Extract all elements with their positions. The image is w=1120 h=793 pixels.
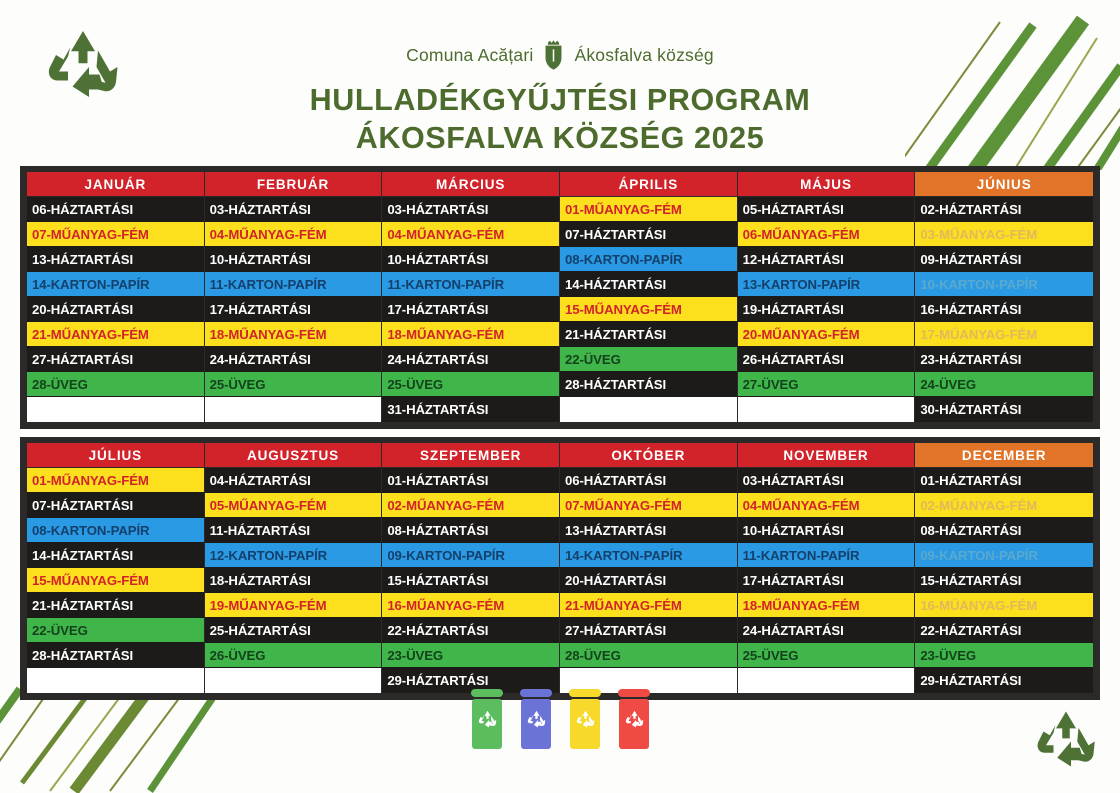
month-column-szeptember: SZEPTEMBER01-HÁZTARTÁSI02-MŰANYAG-FÉM08-… — [382, 443, 560, 693]
calendar-cell: 16-HÁZTARTÁSI — [915, 297, 1093, 322]
bin-yellow — [565, 689, 605, 751]
calendar-cell: 01-MŰANYAG-FÉM — [27, 468, 204, 493]
calendar-cell: 18-MŰANYAG-FÉM — [382, 322, 559, 347]
month-column-május: MÁJUS05-HÁZTARTÁSI06-MŰANYAG-FÉM12-HÁZTA… — [738, 172, 916, 422]
calendar-cell: 03-HÁZTARTÁSI — [382, 197, 559, 222]
month-header: JANUÁR — [27, 172, 204, 197]
calendar-cell: 15-MŰANYAG-FÉM — [560, 297, 737, 322]
calendar-cell: 01-MŰANYAG-FÉM — [560, 197, 737, 222]
bin-red — [614, 689, 654, 751]
month-header: MÁRCIUS — [382, 172, 559, 197]
calendar-cell: 04-MŰANYAG-FÉM — [382, 222, 559, 247]
commune-name-hu: Ákosfalva község — [574, 45, 713, 66]
calendar-cell: 20-HÁZTARTÁSI — [560, 568, 737, 593]
calendar-cell: 01-HÁZTARTÁSI — [382, 468, 559, 493]
calendar-cell: 03-HÁZTARTÁSI — [205, 197, 382, 222]
calendar-cell: 28-HÁZTARTÁSI — [560, 372, 737, 397]
calendar-cell: 19-HÁZTARTÁSI — [738, 297, 915, 322]
calendar-cell: 14-HÁZTARTÁSI — [560, 272, 737, 297]
calendar-cell: 27-HÁZTARTÁSI — [560, 618, 737, 643]
month-header: JÚNIUS — [915, 172, 1093, 197]
calendar-cell: 21-HÁZTARTÁSI — [27, 593, 204, 618]
calendar-cell: 25-ÜVEG — [205, 372, 382, 397]
calendar-cell: 04-MŰANYAG-FÉM — [738, 493, 915, 518]
calendar-cell: 16-MŰANYAG-FÉM — [915, 593, 1093, 618]
calendar-cell: 08-HÁZTARTÁSI — [915, 518, 1093, 543]
calendar-cell: 25-ÜVEG — [738, 643, 915, 668]
page-title: HULLADÉKGYŰJTÉSI PROGRAM — [230, 81, 890, 119]
calendar-cell: 23-ÜVEG — [382, 643, 559, 668]
calendar-cell: 20-MŰANYAG-FÉM — [738, 322, 915, 347]
calendar-cell: 08-KARTON-PAPÍR — [27, 518, 204, 543]
calendar-cell: 23-HÁZTARTÁSI — [915, 347, 1093, 372]
calendar-cell: 12-KARTON-PAPÍR — [205, 543, 382, 568]
calendar-cell: 26-HÁZTARTÁSI — [738, 347, 915, 372]
calendar-cell: 17-MŰANYAG-FÉM — [915, 322, 1093, 347]
calendar-cell: 17-HÁZTARTÁSI — [205, 297, 382, 322]
commune-name-ro: Comuna Acățari — [406, 45, 533, 66]
month-column-március: MÁRCIUS03-HÁZTARTÁSI04-MŰANYAG-FÉM10-HÁZ… — [382, 172, 560, 422]
calendar-cell: 18-HÁZTARTÁSI — [205, 568, 382, 593]
recycle-icon — [45, 28, 121, 100]
calendar-cell: 16-MŰANYAG-FÉM — [382, 593, 559, 618]
bin-green — [467, 689, 507, 751]
calendar-cell: 24-ÜVEG — [915, 372, 1093, 397]
calendar-cell-empty — [738, 397, 915, 422]
calendar-cell: 04-HÁZTARTÁSI — [205, 468, 382, 493]
calendar-cell: 28-ÜVEG — [27, 372, 204, 397]
calendar-cell: 17-HÁZTARTÁSI — [382, 297, 559, 322]
calendar-table-second-half: JÚLIUS01-MŰANYAG-FÉM07-HÁZTARTÁSI08-KART… — [20, 437, 1100, 700]
calendar-cell-empty — [27, 397, 204, 422]
calendar-cell: 14-HÁZTARTÁSI — [27, 543, 204, 568]
waste-bins-illustration — [0, 689, 1120, 751]
bin-green-glyph — [467, 689, 507, 751]
calendar-cell: 03-HÁZTARTÁSI — [738, 468, 915, 493]
calendar-cell-empty — [205, 397, 382, 422]
calendar-cell: 22-HÁZTARTÁSI — [915, 618, 1093, 643]
calendar-table-first-half: JANUÁR06-HÁZTARTÁSI07-MŰANYAG-FÉM13-HÁZT… — [20, 166, 1100, 429]
calendar-cell: 28-HÁZTARTÁSI — [27, 643, 204, 668]
calendar-cell: 15-MŰANYAG-FÉM — [27, 568, 204, 593]
bin-blue — [516, 689, 556, 751]
month-column-július: JÚLIUS01-MŰANYAG-FÉM07-HÁZTARTÁSI08-KART… — [27, 443, 205, 693]
calendar-cell: 07-HÁZTARTÁSI — [560, 222, 737, 247]
calendar-cell: 19-MŰANYAG-FÉM — [205, 593, 382, 618]
calendar-cell: 02-HÁZTARTÁSI — [915, 197, 1093, 222]
calendar-grid: JÚLIUS01-MŰANYAG-FÉM07-HÁZTARTÁSI08-KART… — [27, 443, 1093, 693]
calendar-cell: 17-HÁZTARTÁSI — [738, 568, 915, 593]
calendar-cell: 11-KARTON-PAPÍR — [382, 272, 559, 297]
calendar-cell: 18-MŰANYAG-FÉM — [205, 322, 382, 347]
calendar-cell: 30-HÁZTARTÁSI — [915, 397, 1093, 422]
calendar-cell: 06-HÁZTARTÁSI — [27, 197, 204, 222]
month-column-december: DECEMBER01-HÁZTARTÁSI02-MŰANYAG-FÉM08-HÁ… — [915, 443, 1093, 693]
calendar-cell: 27-HÁZTARTÁSI — [27, 347, 204, 372]
calendar-cell: 09-KARTON-PAPÍR — [915, 543, 1093, 568]
month-header: FEBRUÁR — [205, 172, 382, 197]
calendar-cell: 07-MŰANYAG-FÉM — [560, 493, 737, 518]
month-header: OKTÓBER — [560, 443, 737, 468]
calendar-cell: 21-MŰANYAG-FÉM — [27, 322, 204, 347]
recycle-icon — [1034, 709, 1098, 769]
month-column-augusztus: AUGUSZTUS04-HÁZTARTÁSI05-MŰANYAG-FÉM11-H… — [205, 443, 383, 693]
bin-red-glyph — [614, 689, 654, 751]
calendar-cell: 08-KARTON-PAPÍR — [560, 247, 737, 272]
calendar-cell: 21-MŰANYAG-FÉM — [560, 593, 737, 618]
calendar-cell: 24-HÁZTARTÁSI — [738, 618, 915, 643]
page-subtitle: ÁKOSFALVA KÖZSÉG 2025 — [230, 119, 890, 157]
calendar-cell: 27-ÜVEG — [738, 372, 915, 397]
calendar-cell: 02-MŰANYAG-FÉM — [382, 493, 559, 518]
calendar-cell: 14-KARTON-PAPÍR — [560, 543, 737, 568]
month-column-február: FEBRUÁR03-HÁZTARTÁSI04-MŰANYAG-FÉM10-HÁZ… — [205, 172, 383, 422]
calendar-cell: 12-HÁZTARTÁSI — [738, 247, 915, 272]
month-header: AUGUSZTUS — [205, 443, 382, 468]
month-header: DECEMBER — [915, 443, 1093, 468]
calendar-cell: 24-HÁZTARTÁSI — [205, 347, 382, 372]
month-header: MÁJUS — [738, 172, 915, 197]
calendar-cell: 09-HÁZTARTÁSI — [915, 247, 1093, 272]
calendar-cell: 31-HÁZTARTÁSI — [382, 397, 559, 422]
calendar-cell: 15-HÁZTARTÁSI — [915, 568, 1093, 593]
commune-line: Comuna Acățari Ákosfalva község — [230, 40, 890, 70]
calendar-cell: 21-HÁZTARTÁSI — [560, 322, 737, 347]
calendar-cell: 18-MŰANYAG-FÉM — [738, 593, 915, 618]
calendar-cell: 22-HÁZTARTÁSI — [382, 618, 559, 643]
calendar-cell-empty — [560, 397, 737, 422]
month-column-október: OKTÓBER06-HÁZTARTÁSI07-MŰANYAG-FÉM13-HÁZ… — [560, 443, 738, 693]
calendar-cell: 10-HÁZTARTÁSI — [382, 247, 559, 272]
calendar-cell: 06-MŰANYAG-FÉM — [738, 222, 915, 247]
month-column-november: NOVEMBER03-HÁZTARTÁSI04-MŰANYAG-FÉM10-HÁ… — [738, 443, 916, 693]
bin-yellow-glyph — [565, 689, 605, 751]
calendar-cell: 11-KARTON-PAPÍR — [205, 272, 382, 297]
calendar-cell: 01-HÁZTARTÁSI — [915, 468, 1093, 493]
calendar-cell: 25-ÜVEG — [382, 372, 559, 397]
calendar-cell: 13-HÁZTARTÁSI — [560, 518, 737, 543]
month-column-január: JANUÁR06-HÁZTARTÁSI07-MŰANYAG-FÉM13-HÁZT… — [27, 172, 205, 422]
calendar-cell: 24-HÁZTARTÁSI — [382, 347, 559, 372]
calendar-cell: 14-KARTON-PAPÍR — [27, 272, 204, 297]
calendar-grid: JANUÁR06-HÁZTARTÁSI07-MŰANYAG-FÉM13-HÁZT… — [27, 172, 1093, 422]
calendar-cell: 10-HÁZTARTÁSI — [205, 247, 382, 272]
calendar-cell: 28-ÜVEG — [560, 643, 737, 668]
calendar-cell: 22-ÜVEG — [27, 618, 204, 643]
calendar-cell: 10-KARTON-PAPÍR — [915, 272, 1093, 297]
month-column-április: ÁPRILIS01-MŰANYAG-FÉM07-HÁZTARTÁSI08-KAR… — [560, 172, 738, 422]
calendar-cell: 04-MŰANYAG-FÉM — [205, 222, 382, 247]
calendar-cell: 07-HÁZTARTÁSI — [27, 493, 204, 518]
bin-blue-glyph — [516, 689, 556, 751]
calendar-cell: 25-HÁZTARTÁSI — [205, 618, 382, 643]
calendar-cell: 06-HÁZTARTÁSI — [560, 468, 737, 493]
calendar-cell: 08-HÁZTARTÁSI — [382, 518, 559, 543]
calendar-cell: 07-MŰANYAG-FÉM — [27, 222, 204, 247]
month-header: NOVEMBER — [738, 443, 915, 468]
calendar-cell: 23-ÜVEG — [915, 643, 1093, 668]
calendar-cell: 10-HÁZTARTÁSI — [738, 518, 915, 543]
month-header: SZEPTEMBER — [382, 443, 559, 468]
month-column-június: JÚNIUS02-HÁZTARTÁSI03-MŰANYAG-FÉM09-HÁZT… — [915, 172, 1093, 422]
calendar-cell: 03-MŰANYAG-FÉM — [915, 222, 1093, 247]
title-block: Comuna Acățari Ákosfalva község HULLADÉK… — [230, 40, 890, 157]
calendar-cell: 26-ÜVEG — [205, 643, 382, 668]
calendar-cell: 09-KARTON-PAPÍR — [382, 543, 559, 568]
calendar-cell: 15-HÁZTARTÁSI — [382, 568, 559, 593]
calendar-cell: 05-MŰANYAG-FÉM — [205, 493, 382, 518]
calendar-cell: 11-HÁZTARTÁSI — [205, 518, 382, 543]
calendar-cell: 11-KARTON-PAPÍR — [738, 543, 915, 568]
calendar-cell: 13-HÁZTARTÁSI — [27, 247, 204, 272]
calendar-cell: 13-KARTON-PAPÍR — [738, 272, 915, 297]
month-header: ÁPRILIS — [560, 172, 737, 197]
poster-header: Comuna Acățari Ákosfalva község HULLADÉK… — [0, 0, 1120, 165]
month-header: JÚLIUS — [27, 443, 204, 468]
calendar-cell: 05-HÁZTARTÁSI — [738, 197, 915, 222]
calendar-cell: 22-ÜVEG — [560, 347, 737, 372]
coat-of-arms-shield-icon — [542, 40, 565, 70]
calendar-cell: 02-MŰANYAG-FÉM — [915, 493, 1093, 518]
calendar-cell: 20-HÁZTARTÁSI — [27, 297, 204, 322]
waste-collection-poster: Comuna Acățari Ákosfalva község HULLADÉK… — [0, 0, 1120, 793]
